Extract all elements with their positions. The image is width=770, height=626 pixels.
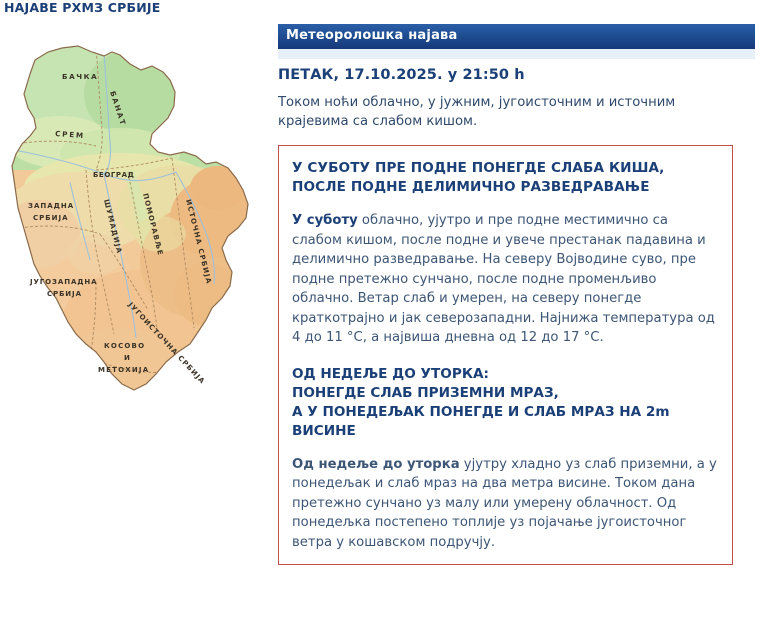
page-title: НАЈАВЕ РХМЗ СРБИЈЕ — [4, 0, 160, 15]
alert-heading2-line-3: А У ПОНЕДЕЉАК ПОНЕГДЕ И СЛАБ МРАЗ НА 2m — [292, 403, 720, 422]
alert-paragraph-sunday-tuesday: Од недеље до уторка ујутру хладно уз сла… — [292, 455, 720, 553]
alert-heading-secondary: ОД НЕДЕЉЕ ДО УТОРКА: ПОНЕГДЕ СЛАБ ПРИЗЕМ… — [292, 365, 720, 441]
alert-heading-line-1: У СУБОТУ ПРЕ ПОДНЕ ПОНЕГДЕ СЛАБА КИША, — [292, 159, 720, 178]
serbia-region-map: БАЧКАБАНАТСРЕМБЕОГРАДЗАПАДНАСРБИЈАШУМАДИ… — [0, 22, 272, 422]
map-region-label: ЈУГОЗАПАДНА — [29, 278, 98, 286]
map-region-label: БАЧКА — [62, 72, 98, 81]
map-terrain-layer — [0, 22, 272, 422]
alert-heading2-line-1: ОД НЕДЕЉЕ ДО УТОРКА: — [292, 365, 720, 384]
map-region-label: ЗАПАДНА — [28, 202, 74, 210]
alert-paragraph-saturday: У суботу облачно, ујутро и пре подне мес… — [292, 211, 720, 348]
alert-paragraph-sunday-lead: Од недеље до уторка — [292, 457, 460, 472]
map-region-label: СРБИЈА — [47, 290, 82, 298]
map-svg: БАЧКАБАНАТСРЕМБЕОГРАДЗАПАДНАСРБИЈАШУМАДИ… — [0, 22, 272, 422]
alert-heading2-line-2: ПОНЕГДЕ СЛАБ ПРИЗЕМНИ МРАЗ, — [292, 384, 720, 403]
alert-heading2-line-4: ВИСИНЕ — [292, 422, 720, 441]
map-region-label: КОСОВО — [104, 342, 145, 350]
alert-paragraph-saturday-body: облачно, ујутро и пре подне местимично с… — [292, 213, 715, 345]
map-region-label: БЕОГРАД — [93, 171, 135, 179]
forecast-panel: Метеоролошка најава ПЕТАК, 17.10.2025. у… — [278, 24, 770, 565]
alert-heading-primary: У СУБОТУ ПРЕ ПОДНЕ ПОНЕГДЕ СЛАБА КИША, П… — [292, 159, 720, 197]
screenshot-root: НАЈАВЕ РХМЗ СРБИЈЕ — [0, 0, 770, 626]
weather-alert-box: У СУБОТУ ПРЕ ПОДНЕ ПОНЕГДЕ СЛАБА КИША, П… — [278, 145, 733, 565]
map-region-label: МЕТОХИЈА — [98, 366, 149, 374]
panel-header-bar: Метеоролошка најава — [278, 24, 755, 49]
forecast-intro: Током ноћи облачно, у јужним, југоисточн… — [278, 94, 678, 131]
map-region-label: СРБИЈА — [33, 214, 68, 222]
panel-header-label: Метеоролошка најава — [286, 28, 457, 43]
alert-paragraph-saturday-lead: У суботу — [292, 213, 358, 228]
forecast-date: ПЕТАК, 17.10.2025. у 21:50 h — [278, 67, 770, 83]
alert-heading-line-2: ПОСЛЕ ПОДНЕ ДЕЛИМИЧНО РАЗВЕДРАВАЊЕ — [292, 178, 720, 197]
map-region-label: И — [124, 354, 131, 362]
panel-header-underline — [278, 49, 755, 59]
